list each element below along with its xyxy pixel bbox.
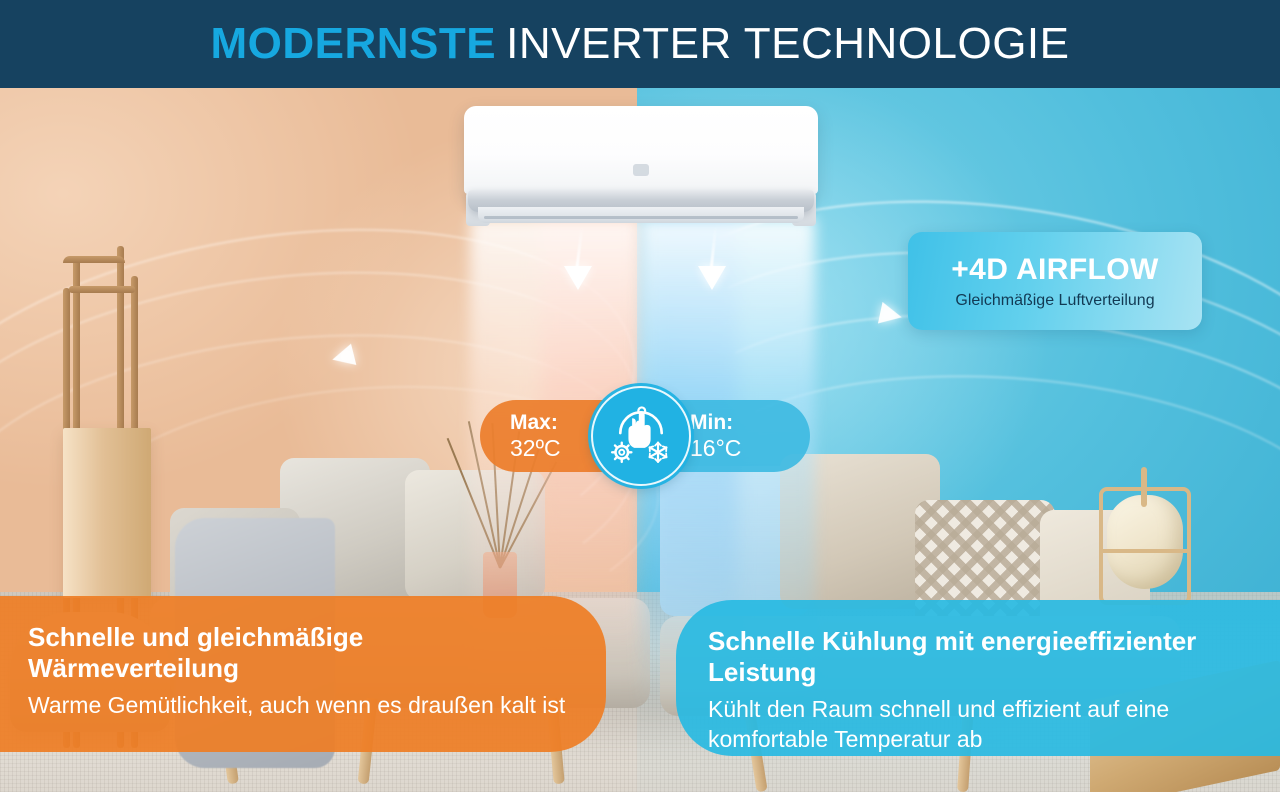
feature-card-heating-description: Warme Gemütlichkeit, auch wenn es drauße… — [28, 691, 570, 720]
min-temperature-label: Min: — [690, 411, 810, 435]
airflow-arrow-down — [698, 266, 726, 290]
page-title: MODERNSTEINVERTER TECHNOLOGIE — [211, 22, 1070, 66]
air-conditioner-unit — [464, 106, 818, 224]
ac-body — [464, 106, 818, 194]
airflow-badge-title: +4D AIRFLOW — [951, 253, 1158, 286]
min-temperature-value: 16°C — [690, 435, 810, 461]
temperature-control-icon-circle — [591, 386, 691, 486]
airflow-badge: +4D AIRFLOW Gleichmäßige Luftverteilung — [908, 232, 1202, 330]
hand-touch-sun-snowflake-icon — [604, 399, 678, 473]
room-scene: +4D AIRFLOW Gleichmäßige Luftverteilung … — [0, 88, 1280, 792]
feature-card-heating-title: Schnelle und gleichmäßige Wärmeverteilun… — [28, 622, 570, 683]
feature-card-cooling: Schnelle Kühlung mit energieeffizienter … — [676, 600, 1280, 756]
airflow-arrow-right — [878, 302, 904, 328]
page-title-rest: INVERTER TECHNOLOGIE — [506, 19, 1069, 68]
feature-card-heating: Schnelle und gleichmäßige Wärmeverteilun… — [0, 596, 606, 752]
lamp-shade — [63, 428, 151, 598]
ac-air-vent — [478, 207, 804, 223]
feature-card-cooling-description: Kühlt den Raum schnell und effizient auf… — [708, 695, 1280, 753]
page-title-accent: MODERNSTE — [211, 19, 497, 68]
ac-logo — [633, 164, 649, 176]
airflow-badge-subtitle: Gleichmäßige Luftverteilung — [955, 292, 1154, 310]
header-bar: MODERNSTEINVERTER TECHNOLOGIE — [0, 0, 1280, 88]
airflow-arrow-down — [564, 266, 592, 290]
feature-card-cooling-title: Schnelle Kühlung mit energieeffizienter … — [708, 626, 1280, 687]
ac-vent-line — [484, 216, 798, 219]
infographic-poster: MODERNSTEINVERTER TECHNOLOGIE — [0, 0, 1280, 792]
